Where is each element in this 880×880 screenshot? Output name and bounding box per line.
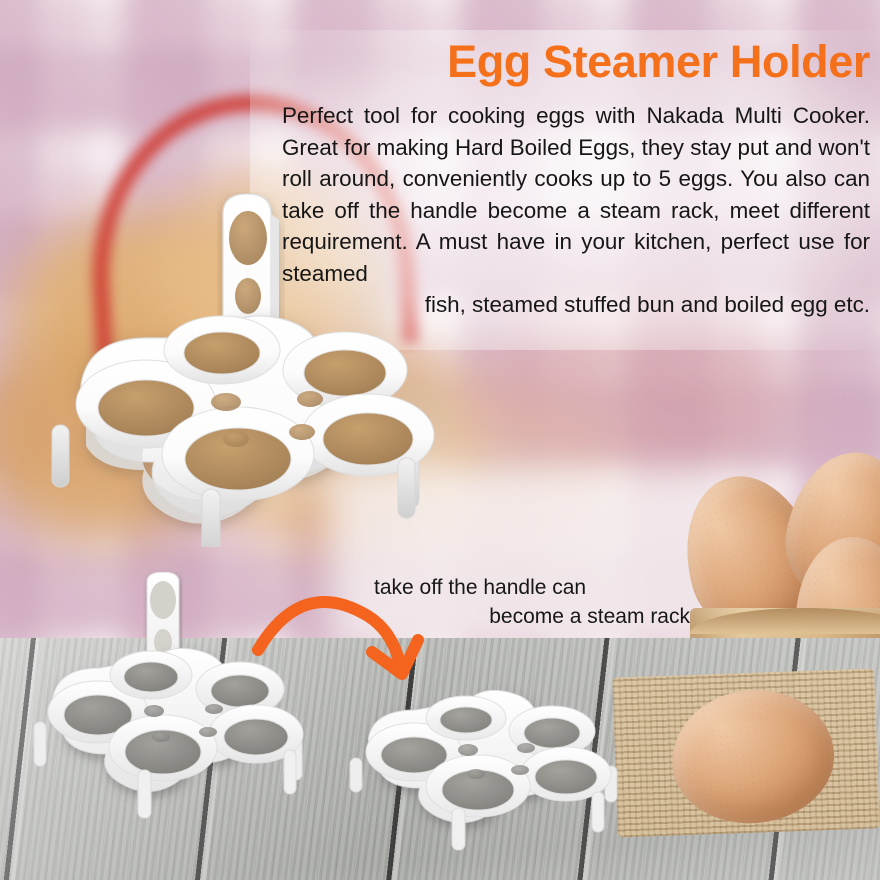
- product-description: Perfect tool for cooking eggs with Nakad…: [282, 100, 870, 321]
- callout-line-1: take off the handle can: [360, 573, 690, 602]
- egg-ring: [162, 407, 314, 501]
- callout-line-2: become a steam rack: [360, 602, 690, 631]
- handle-hole-medium: [235, 278, 261, 314]
- egg-ring: [426, 755, 530, 817]
- egg-ring: [110, 651, 192, 699]
- handle-hole-large: [150, 581, 176, 619]
- egg-ring: [109, 715, 217, 781]
- bowl-rim: [690, 608, 880, 634]
- handle-hole-large: [229, 211, 267, 265]
- callout-text: take off the handle can become a steam r…: [360, 573, 690, 631]
- egg-ring: [164, 316, 280, 384]
- egg-rack-without-handle-bottom-right: [340, 680, 630, 858]
- description-last-line: fish, steamed stuffed bun and boiled egg…: [282, 289, 870, 321]
- page-title: Egg Steamer Holder: [270, 38, 870, 85]
- description-main: Perfect tool for cooking eggs with Nakad…: [282, 103, 870, 286]
- egg-ring: [426, 696, 506, 740]
- product-marketing-image: Egg Steamer Holder Perfect tool for cook…: [0, 0, 880, 880]
